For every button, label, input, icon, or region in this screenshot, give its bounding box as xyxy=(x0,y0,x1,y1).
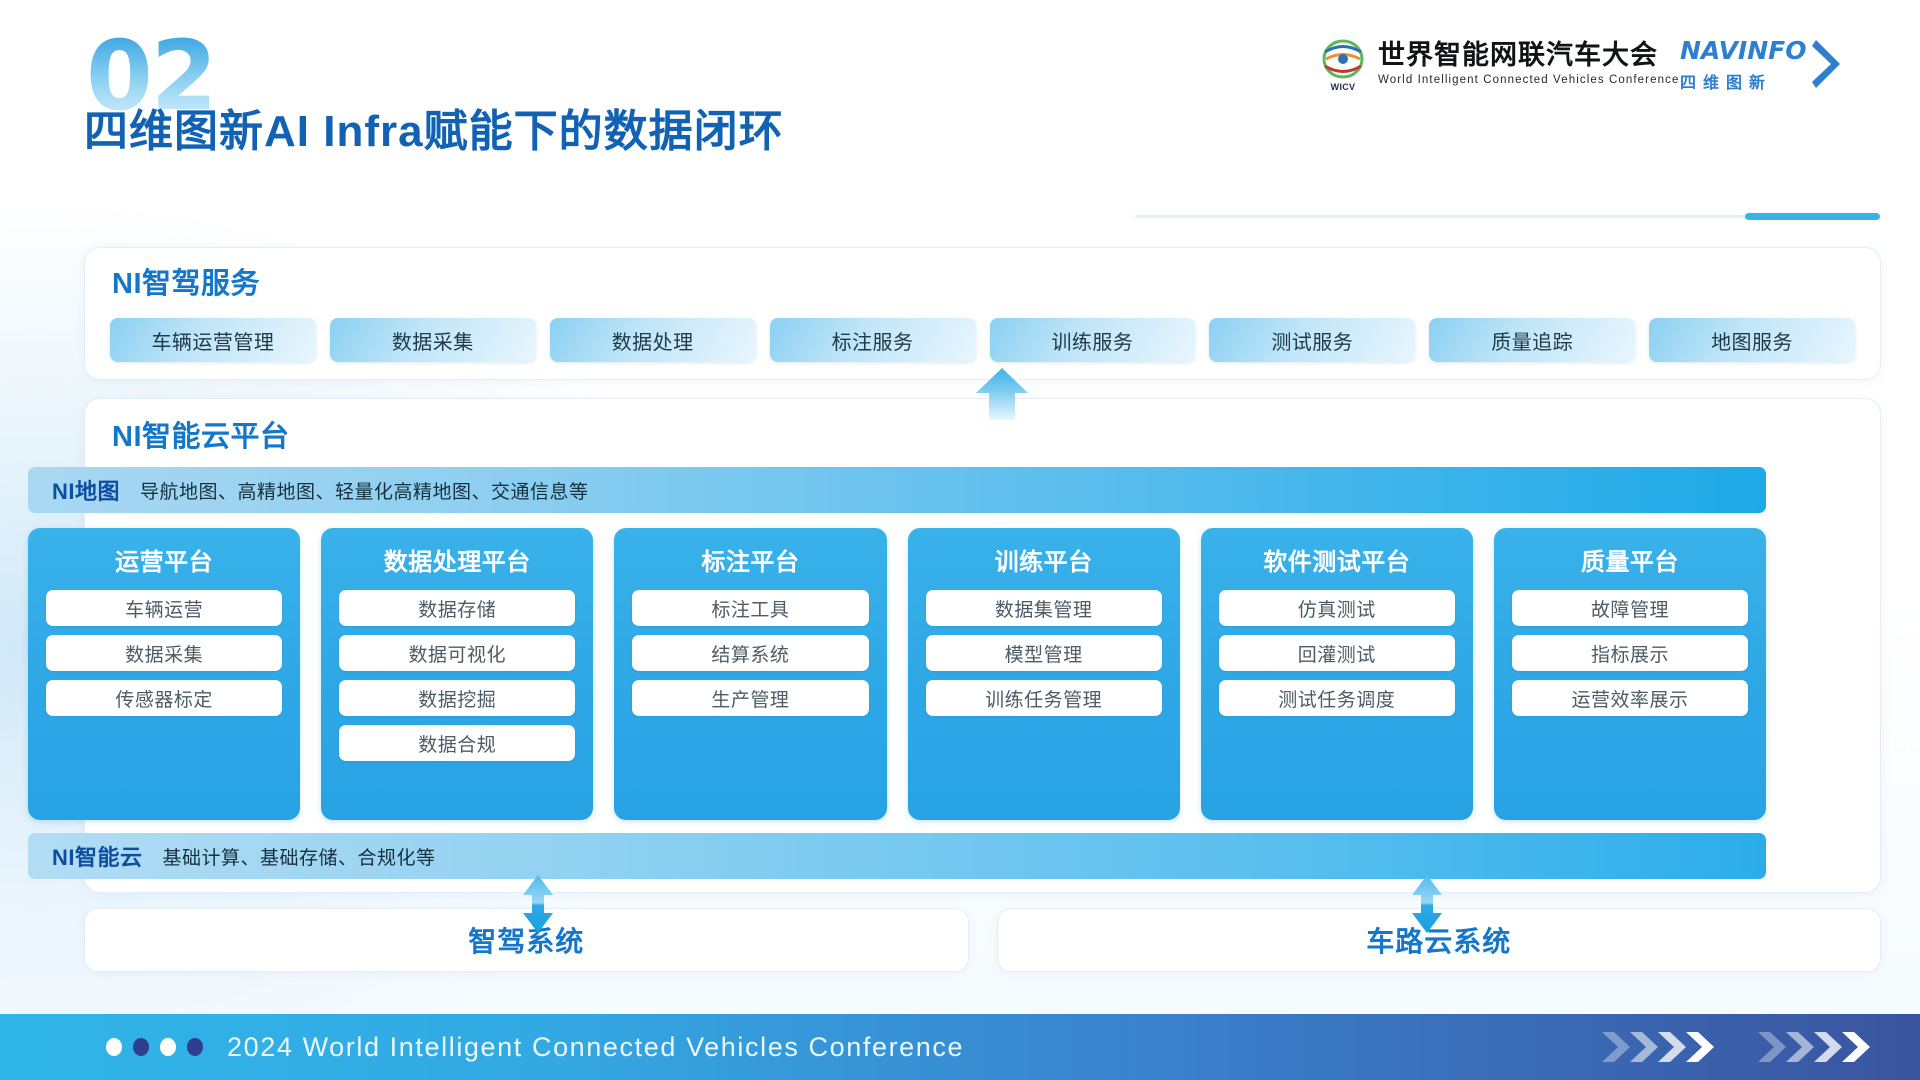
ni-map-strip-key: NI地图 xyxy=(52,474,120,506)
navinfo-chevron-icon xyxy=(1810,38,1844,95)
footer-dot-icon xyxy=(133,1038,149,1056)
footer-dot-icon xyxy=(106,1038,122,1056)
upward-arrow-icon xyxy=(975,368,1029,420)
platform-sub-item[interactable]: 数据合规 xyxy=(339,725,575,761)
wicv-logo: WICV 世界智能网联汽车大会 World Intelligent Connec… xyxy=(1320,38,1679,90)
navinfo-name-en: NAVINFO xyxy=(1680,36,1806,65)
footer-text: 2024 World Intelligent Connected Vehicle… xyxy=(227,1032,964,1063)
wicv-title-en: World Intelligent Connected Vehicles Con… xyxy=(1378,74,1679,86)
platform-title: 运营平台 xyxy=(46,542,282,577)
footer-dot-icon xyxy=(160,1038,176,1056)
ni-driving-services-panel: NI智驾服务 车辆运营管理 数据采集 数据处理 标注服务 训练服务 测试服务 质… xyxy=(84,247,1881,380)
platform-card-annotation[interactable]: 标注平台 标注工具 结算系统 生产管理 xyxy=(614,528,886,820)
platform-title: 软件测试平台 xyxy=(1219,542,1455,577)
platform-sub-item[interactable]: 训练任务管理 xyxy=(926,680,1162,716)
platform-columns: 运营平台 车辆运营 数据采集 传感器标定 数据处理平台 数据存储 数据可视化 数… xyxy=(28,528,1766,820)
service-pill[interactable]: 车辆运营管理 xyxy=(110,318,316,362)
footer-dot-icon xyxy=(187,1038,203,1056)
platform-sub-item[interactable]: 车辆运营 xyxy=(46,590,282,626)
platform-sub-item[interactable]: 数据挖掘 xyxy=(339,680,575,716)
platform-sub-item[interactable]: 测试任务调度 xyxy=(1219,680,1455,716)
service-pill[interactable]: 测试服务 xyxy=(1209,318,1415,362)
platform-card-training[interactable]: 训练平台 数据集管理 模型管理 训练任务管理 xyxy=(908,528,1180,820)
platform-sub-item[interactable]: 指标展示 xyxy=(1512,635,1748,671)
footer-chevrons-icon-1 xyxy=(1600,1028,1720,1066)
platform-sub-item[interactable]: 生产管理 xyxy=(632,680,868,716)
platform-sub-item[interactable]: 模型管理 xyxy=(926,635,1162,671)
platform-title: 训练平台 xyxy=(926,542,1162,577)
cloud-panel-heading: NI智能云平台 xyxy=(112,413,290,455)
platform-sub-item[interactable]: 传感器标定 xyxy=(46,680,282,716)
platform-card-software-test[interactable]: 软件测试平台 仿真测试 回灌测试 测试任务调度 xyxy=(1201,528,1473,820)
services-pill-row: 车辆运营管理 数据采集 数据处理 标注服务 训练服务 测试服务 质量追踪 地图服… xyxy=(110,318,1855,362)
platform-sub-item[interactable]: 数据采集 xyxy=(46,635,282,671)
footer-chevrons-icon-2 xyxy=(1756,1028,1876,1066)
ni-cloud-strip-key: NI智能云 xyxy=(52,840,143,872)
ni-cloud-strip-value: 基础计算、基础存储、合规化等 xyxy=(163,843,436,870)
service-pill[interactable]: 质量追踪 xyxy=(1429,318,1635,362)
platform-sub-item[interactable]: 运营效率展示 xyxy=(1512,680,1748,716)
ni-map-strip: NI地图 导航地图、高精地图、轻量化高精地图、交通信息等 xyxy=(28,467,1766,513)
platform-sub-item[interactable]: 数据集管理 xyxy=(926,590,1162,626)
page-title: 四维图新AI Infra赋能下的数据闭环 xyxy=(84,95,784,159)
service-pill[interactable]: 训练服务 xyxy=(990,318,1196,362)
services-panel-heading: NI智驾服务 xyxy=(112,260,260,302)
service-pill[interactable]: 数据采集 xyxy=(330,318,536,362)
footer-dots xyxy=(106,1038,203,1056)
systems-row: 智驾系统 车路云系统 xyxy=(84,908,1881,972)
slide-root: 02 四维图新AI Infra赋能下的数据闭环 WICV 世界智能网联汽车大会 … xyxy=(0,0,1920,1080)
footer-chevron-group xyxy=(1600,1028,1876,1066)
double-arrow-icon-right xyxy=(1412,875,1442,933)
slide-header: 02 四维图新AI Infra赋能下的数据闭环 WICV 世界智能网联汽车大会 … xyxy=(0,0,1920,200)
ni-intelligent-cloud-strip: NI智能云 基础计算、基础存储、合规化等 xyxy=(28,833,1766,879)
platform-sub-item[interactable]: 仿真测试 xyxy=(1219,590,1455,626)
platform-sub-item[interactable]: 数据存储 xyxy=(339,590,575,626)
ni-map-strip-value: 导航地图、高精地图、轻量化高精地图、交通信息等 xyxy=(140,477,589,504)
platform-sub-item[interactable]: 标注工具 xyxy=(632,590,868,626)
wicv-mark-icon: WICV xyxy=(1320,38,1366,90)
platform-sub-item[interactable]: 回灌测试 xyxy=(1219,635,1455,671)
wicv-mark-label: WICV xyxy=(1331,82,1356,92)
service-pill[interactable]: 标注服务 xyxy=(770,318,976,362)
platform-card-quality[interactable]: 质量平台 故障管理 指标展示 运营效率展示 xyxy=(1494,528,1766,820)
platform-title: 质量平台 xyxy=(1512,542,1748,577)
platform-sub-item[interactable]: 结算系统 xyxy=(632,635,868,671)
navinfo-name-cn: 四维图新 xyxy=(1680,69,1806,93)
service-pill[interactable]: 数据处理 xyxy=(550,318,756,362)
platform-title: 标注平台 xyxy=(632,542,868,577)
slide-footer: 2024 World Intelligent Connected Vehicle… xyxy=(0,1014,1920,1080)
service-pill[interactable]: 地图服务 xyxy=(1649,318,1855,362)
double-arrow-icon-left xyxy=(523,875,553,933)
platform-title: 数据处理平台 xyxy=(339,542,575,577)
title-divider-accent xyxy=(1745,213,1880,220)
platform-card-operations[interactable]: 运营平台 车辆运营 数据采集 传感器标定 xyxy=(28,528,300,820)
platform-card-data-processing[interactable]: 数据处理平台 数据存储 数据可视化 数据挖掘 数据合规 xyxy=(321,528,593,820)
wicv-title-cn: 世界智能网联汽车大会 xyxy=(1378,42,1679,70)
platform-sub-item[interactable]: 数据可视化 xyxy=(339,635,575,671)
navinfo-logo: NAVINFO 四维图新 xyxy=(1680,36,1844,95)
platform-sub-item[interactable]: 故障管理 xyxy=(1512,590,1748,626)
